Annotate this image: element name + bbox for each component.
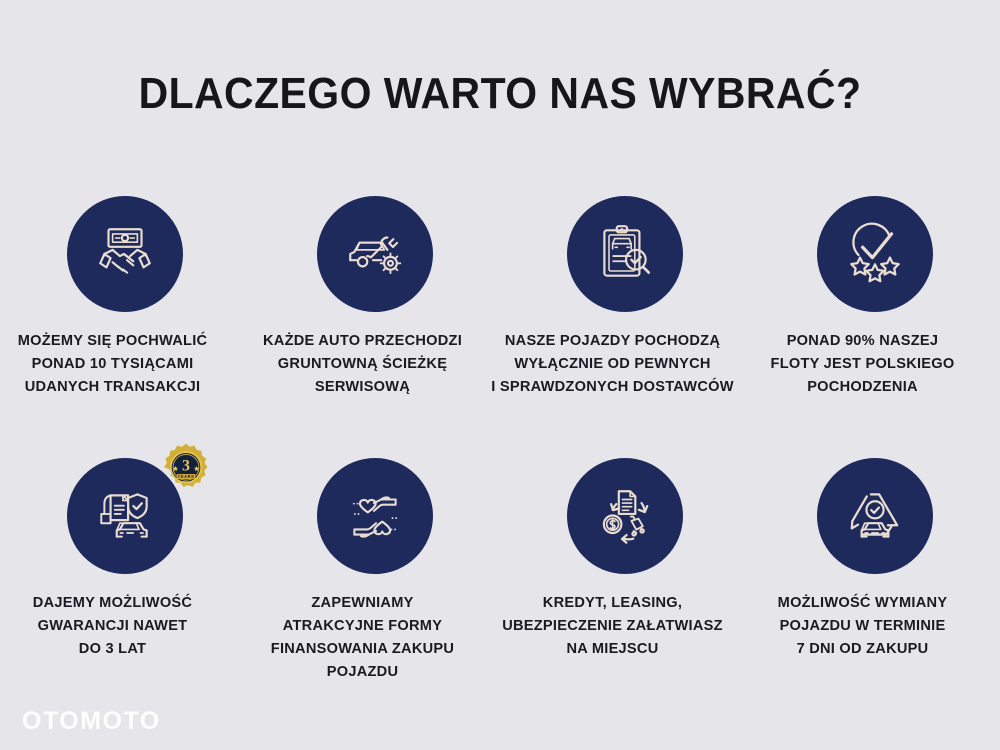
caption-line: POCHODZENIA xyxy=(713,376,1000,399)
caption-line: POJAZDU xyxy=(213,661,513,684)
svg-text:3: 3 xyxy=(182,457,190,474)
icon-wrap-3 xyxy=(567,196,683,312)
three-years-warranty-badge: 3 YEARS WARRANTY xyxy=(159,442,213,496)
svg-text:WARRANTY: WARRANTY xyxy=(177,480,195,484)
feature-item-7: KREDYT, LEASING, UBEZPIECZENIE ZAŁATWIAS… xyxy=(500,458,750,720)
feature-item-8: MOŻLIWOŚĆ WYMIANY POJAZDU W TERMINIE 7 D… xyxy=(750,458,1000,720)
page-title: DLACZEGO WARTO NAS WYBRAĆ? xyxy=(35,68,965,120)
feature-caption-8: MOŻLIWOŚĆ WYMIANY POJAZDU W TERMINIE 7 D… xyxy=(713,592,1000,661)
document-money-cart-cycle-icon xyxy=(567,458,683,574)
car-wrench-gear-icon xyxy=(317,196,433,312)
features-grid: MOŻEMY SIĘ POCHWALIĆ PONAD 10 TYSIĄCAMI … xyxy=(0,196,1000,720)
feature-item-2: KAŻDE AUTO PRZECHODZI GRUNTOWNĄ ŚCIEŻKĘ … xyxy=(250,196,500,458)
clipboard-car-magnifier-check-icon xyxy=(567,196,683,312)
caption-line: POJAZDU W TERMINIE xyxy=(713,615,1000,638)
icon-wrap-7 xyxy=(567,458,683,574)
feature-item-1: MOŻEMY SIĘ POCHWALIĆ PONAD 10 TYSIĄCAMI … xyxy=(0,196,250,458)
feature-item-4: PONAD 90% NASZEJ FLOTY JEST POLSKIEGO PO… xyxy=(750,196,1000,458)
icon-wrap-2 xyxy=(317,196,433,312)
caption-line: PONAD 90% NASZEJ xyxy=(713,330,1000,353)
caption-line: FLOTY JEST POLSKIEGO xyxy=(713,353,1000,376)
handshake-banknote-icon xyxy=(67,196,183,312)
hands-money-exchange-icon xyxy=(317,458,433,574)
check-stars-icon xyxy=(817,196,933,312)
car-exchange-clock-icon xyxy=(817,458,933,574)
feature-caption-4: PONAD 90% NASZEJ FLOTY JEST POLSKIEGO PO… xyxy=(713,330,1000,399)
icon-wrap-5: 3 YEARS WARRANTY xyxy=(67,458,183,574)
icon-wrap-6 xyxy=(317,458,433,574)
icon-wrap-4 xyxy=(817,196,933,312)
feature-item-3: NASZE POJAZDY POCHODZĄ WYŁĄCZNIE OD PEWN… xyxy=(500,196,750,458)
caption-line: MOŻLIWOŚĆ WYMIANY xyxy=(713,592,1000,615)
promo-banner: DLACZEGO WARTO NAS WYBRAĆ? xyxy=(0,0,1000,750)
icon-wrap-1 xyxy=(67,196,183,312)
caption-line: 7 DNI OD ZAKUPU xyxy=(713,638,1000,661)
feature-item-6: ZAPEWNIAMY ATRAKCYJNE FORMY FINANSOWANIA… xyxy=(250,458,500,720)
otomoto-watermark: OTOMOTO xyxy=(22,707,161,736)
svg-text:YEARS: YEARS xyxy=(177,474,194,479)
icon-wrap-8 xyxy=(817,458,933,574)
